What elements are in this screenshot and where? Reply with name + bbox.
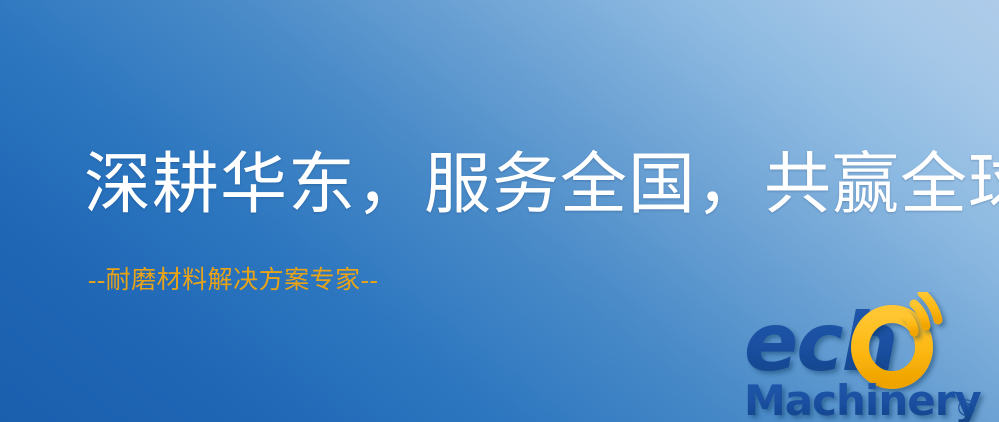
svg-text:Machinery: Machinery (744, 376, 981, 422)
banner-subtitle: --耐磨材料解决方案专家-- (88, 268, 378, 293)
banner-headline: 深耕华东，服务全国，共赢全球 (84, 152, 999, 219)
promotional-banner: 深耕华东，服务全国，共赢全球 --耐磨材料解决方案专家-- (0, 0, 999, 422)
company-logo[interactable]: ech Machinery ® (742, 292, 999, 422)
logo-tagline: Machinery ® (744, 376, 981, 422)
registered-trademark-mark: ® (955, 396, 978, 422)
